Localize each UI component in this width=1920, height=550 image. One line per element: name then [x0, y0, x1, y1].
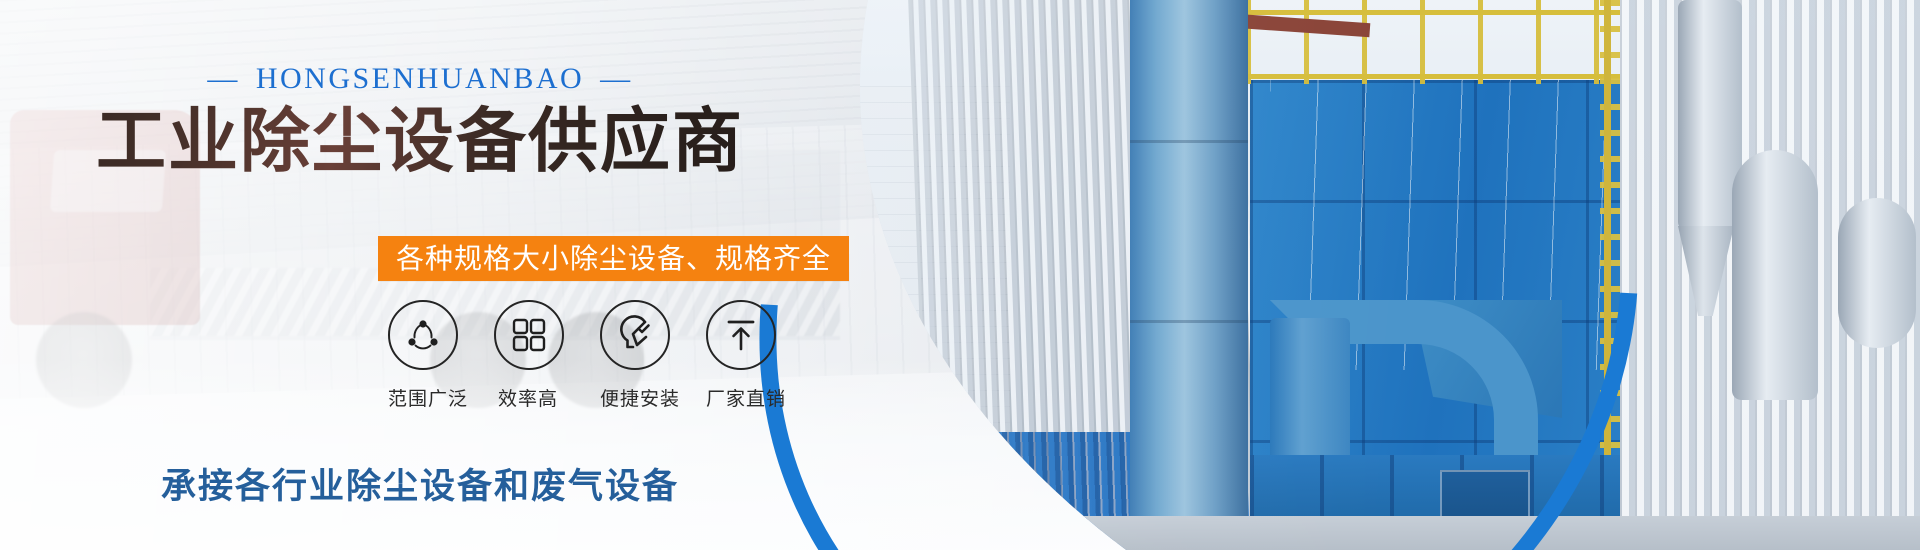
arrow-up-bar-icon	[723, 316, 759, 354]
subtitle-badge: 各种规格大小除尘设备、规格齐全	[378, 236, 849, 281]
feature-icon-ring	[388, 300, 458, 370]
dash-right-icon: —	[600, 62, 633, 96]
network-nodes-icon	[403, 315, 443, 355]
dash-left-icon: —	[207, 62, 240, 96]
hero-banner: —HONGSENHUANBAO— 工业除尘设备供应商 各种规格大小除尘设备、规格…	[0, 0, 1920, 550]
feature-item-easy-install[interactable]: 便捷安装	[600, 300, 668, 411]
wrench-icon	[615, 315, 655, 355]
feature-icon-ring	[494, 300, 564, 370]
feature-item-high-efficiency[interactable]: 效率高	[494, 300, 562, 411]
banner-tagline: 承接各行业除尘设备和废气设备	[0, 458, 840, 509]
feature-icon-ring	[600, 300, 670, 370]
feature-item-wide-range[interactable]: 范围广泛	[388, 300, 456, 411]
banner-content: —HONGSENHUANBAO— 工业除尘设备供应商 各种规格大小除尘设备、规格…	[0, 0, 860, 550]
feature-label: 便捷安装	[600, 384, 668, 411]
page-title: 工业除尘设备供应商	[0, 104, 840, 180]
feature-list: 范围广泛 效率高	[388, 300, 774, 411]
feature-label: 范围广泛	[388, 384, 456, 411]
feature-label: 厂家直销	[706, 384, 774, 411]
feature-icon-ring	[706, 300, 776, 370]
brand-pinyin-text: HONGSENHUANBAO	[256, 62, 584, 95]
grid-squares-icon	[511, 317, 547, 353]
feature-item-factory-direct[interactable]: 厂家直销	[706, 300, 774, 411]
feature-label: 效率高	[494, 384, 562, 411]
brand-pinyin-eyebrow: —HONGSENHUANBAO—	[0, 62, 840, 96]
